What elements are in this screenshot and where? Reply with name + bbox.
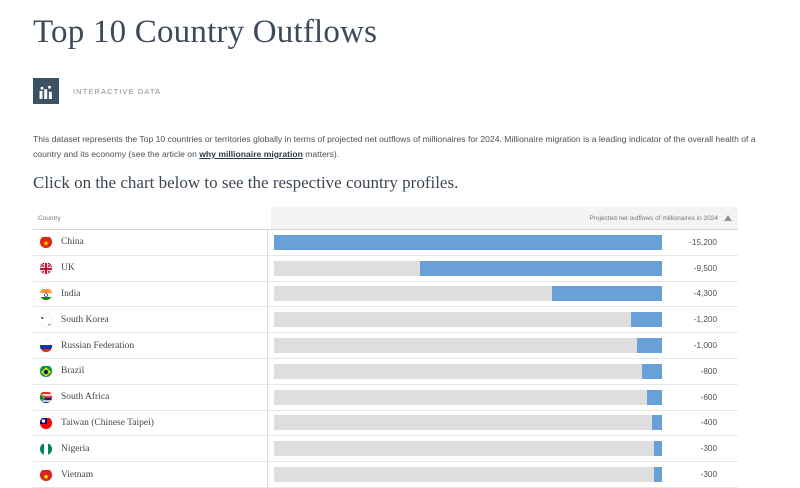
page-title: Top 10 Country Outflows: [33, 14, 377, 51]
bar-track[interactable]: [274, 441, 662, 456]
country-cell[interactable]: Nigeria: [33, 436, 268, 461]
table-row[interactable]: Taiwan (Chinese Taipei)-400: [33, 411, 738, 437]
country-name: Taiwan (Chinese Taipei): [61, 418, 154, 428]
bar-track[interactable]: [274, 415, 662, 430]
bar-value-label: -400: [662, 418, 724, 427]
table-row[interactable]: ★China-15,200: [33, 230, 738, 256]
bar-track[interactable]: [274, 390, 662, 405]
country-cell[interactable]: South Africa: [33, 385, 268, 410]
bar-fill[interactable]: [637, 338, 663, 353]
table-row[interactable]: UK-9,500: [33, 256, 738, 282]
why-millionaire-migration-link[interactable]: why millionaire migration: [199, 149, 303, 159]
bar-fill[interactable]: [654, 441, 662, 456]
country-name: India: [61, 289, 81, 299]
bar-fill[interactable]: [654, 467, 662, 482]
outflows-table: Country Projected net outflows of millio…: [33, 207, 738, 488]
bar-track[interactable]: [274, 286, 662, 301]
bar-value-label: -9,500: [662, 264, 724, 273]
interactive-data-badge: INTERACTIVE DATA: [33, 78, 161, 104]
flag-brazil-icon: [40, 365, 52, 377]
table-row[interactable]: Nigeria-300: [33, 436, 738, 462]
flag-uk-icon: [40, 262, 52, 274]
country-cell[interactable]: India: [33, 282, 268, 307]
table-row[interactable]: Russian Federation-1,000: [33, 333, 738, 359]
page-root: Top 10 Country Outflows INTERACTIVE DATA…: [0, 0, 800, 484]
bar-cell[interactable]: -4,300: [268, 282, 738, 307]
bar-track[interactable]: [274, 261, 662, 276]
bar-cell[interactable]: -1,000: [268, 333, 738, 358]
country-name: Brazil: [61, 366, 84, 376]
bar-fill[interactable]: [631, 312, 662, 327]
bar-value-label: -300: [662, 470, 724, 479]
bar-fill[interactable]: [647, 390, 662, 405]
country-cell[interactable]: South Korea: [33, 307, 268, 332]
bar-fill[interactable]: [420, 261, 663, 276]
subheading: Click on the chart below to see the resp…: [33, 173, 458, 193]
flag-south-africa-icon: [40, 391, 52, 403]
country-cell[interactable]: UK: [33, 256, 268, 281]
bar-track[interactable]: [274, 467, 662, 482]
table-row[interactable]: India-4,300: [33, 282, 738, 308]
bar-value-label: -800: [662, 367, 724, 376]
country-cell[interactable]: ★China: [33, 230, 268, 255]
badge-label: INTERACTIVE DATA: [73, 87, 161, 96]
bar-cell[interactable]: -400: [268, 411, 738, 436]
table-row[interactable]: South Korea-1,200: [33, 307, 738, 333]
bar-cell[interactable]: -15,200: [268, 230, 738, 255]
table-body: ★China-15,200UK-9,500India-4,300South Ko…: [33, 230, 738, 488]
bar-chart-icon: [33, 78, 59, 104]
bar-cell[interactable]: -1,200: [268, 307, 738, 332]
country-cell[interactable]: Russian Federation: [33, 333, 268, 358]
table-row[interactable]: Brazil-800: [33, 359, 738, 385]
bar-fill[interactable]: [552, 286, 662, 301]
bar-cell[interactable]: -9,500: [268, 256, 738, 281]
country-name: China: [61, 237, 84, 247]
flag-russia-icon: [40, 340, 52, 352]
country-cell[interactable]: Brazil: [33, 359, 268, 384]
bar-track[interactable]: [274, 364, 662, 379]
bar-cell[interactable]: -300: [268, 436, 738, 461]
intro-text-before-link: This dataset represents the Top 10 count…: [33, 134, 756, 159]
column-header-value-label: Projected net outflows of millionaires i…: [589, 215, 718, 222]
intro-text-after-link: matters).: [303, 149, 339, 159]
country-name: South Korea: [61, 315, 109, 325]
column-header-country[interactable]: Country: [33, 215, 268, 222]
bar-track[interactable]: [274, 312, 662, 327]
table-header-row: Country Projected net outflows of millio…: [33, 207, 738, 230]
flag-vietnam-icon: ★: [40, 469, 52, 481]
flag-china-icon: ★: [40, 236, 52, 248]
flag-south-korea-icon: [40, 314, 52, 326]
column-header-value[interactable]: Projected net outflows of millionaires i…: [271, 207, 738, 229]
bar-cell[interactable]: -800: [268, 359, 738, 384]
svg-text:★: ★: [43, 240, 49, 248]
intro-paragraph: This dataset represents the Top 10 count…: [33, 132, 785, 161]
bar-cell[interactable]: -300: [268, 462, 738, 487]
country-name: Russian Federation: [61, 341, 134, 351]
country-name: UK: [61, 263, 75, 273]
table-row[interactable]: ★Vietnam-300: [33, 462, 738, 488]
bar-cell[interactable]: -600: [268, 385, 738, 410]
country-cell[interactable]: ★Vietnam: [33, 462, 268, 487]
country-cell[interactable]: Taiwan (Chinese Taipei): [33, 411, 268, 436]
flag-taiwan-icon: [40, 417, 52, 429]
sort-ascending-icon[interactable]: [724, 215, 732, 221]
bar-track[interactable]: [274, 338, 662, 353]
bar-value-label: -4,300: [662, 289, 724, 298]
bar-value-label: -300: [662, 444, 724, 453]
bar-track[interactable]: [274, 235, 662, 250]
bar-value-label: -600: [662, 393, 724, 402]
bar-fill[interactable]: [274, 235, 662, 250]
bar-fill[interactable]: [652, 415, 662, 430]
table-row[interactable]: South Africa-600: [33, 385, 738, 411]
bar-fill[interactable]: [642, 364, 662, 379]
flag-nigeria-icon: [40, 443, 52, 455]
svg-text:★: ★: [43, 472, 49, 480]
bar-value-label: -15,200: [662, 238, 724, 247]
bar-value-label: -1,200: [662, 315, 724, 324]
flag-india-icon: [40, 288, 52, 300]
country-name: Vietnam: [61, 470, 93, 480]
country-name: Nigeria: [61, 444, 90, 454]
country-name: South Africa: [61, 392, 109, 402]
bar-value-label: -1,000: [662, 341, 724, 350]
